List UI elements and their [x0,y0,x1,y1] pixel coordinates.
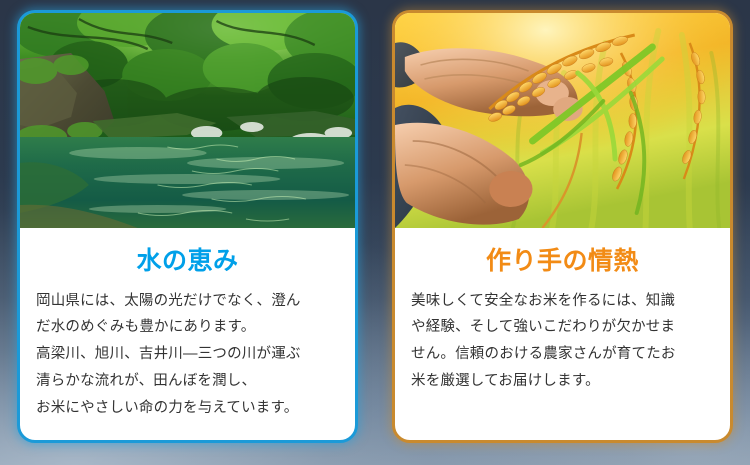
river-gorge-illustration [20,13,355,228]
photo-river-gorge [20,13,355,228]
card-water-title: 水の恵み [36,248,339,276]
text-line: や経験、そして強いこだわりが欠かせま [411,314,714,341]
card-water[interactable]: 水の恵み 岡山県には、太陽の光だけでなく、澄ん だ水のめぐみも豊かにあります。 … [17,10,358,443]
card-water-body: 水の恵み 岡山県には、太陽の光だけでなく、澄ん だ水のめぐみも豊かにあります。 … [20,228,355,422]
text-line: 岡山県には、太陽の光だけでなく、澄ん [36,288,339,315]
photo-rice-harvest [395,13,730,228]
text-line: 清らかな流れが、田んぼを潤し、 [36,368,339,395]
card-passion-body: 作り手の情熱 美味しくて安全なお米を作るには、知識 や経験、そして強いこだわりが… [395,228,730,395]
text-line: 米を厳選してお届けします。 [411,368,714,395]
card-passion-text: 美味しくて安全なお米を作るには、知識 や経験、そして強いこだわりが欠かせま せん… [411,288,714,395]
text-line: 美味しくて安全なお米を作るには、知識 [411,288,714,315]
card-passion[interactable]: 作り手の情熱 美味しくて安全なお米を作るには、知識 や経験、そして強いこだわりが… [392,10,733,443]
text-line: 高梁川、旭川、吉井川―三つの川が運ぶ [36,341,339,368]
text-line: せん。信頼のおける農家さんが育てたお [411,341,714,368]
promo-banner: 水の恵み 岡山県には、太陽の光だけでなく、澄ん だ水のめぐみも豊かにあります。 … [0,0,750,465]
card-water-text: 岡山県には、太陽の光だけでなく、澄ん だ水のめぐみも豊かにあります。 高梁川、旭… [36,288,339,422]
text-line: だ水のめぐみも豊かにあります。 [36,314,339,341]
text-line: お米にやさしい命の力を与えています。 [36,395,339,422]
rice-harvest-illustration [395,13,730,228]
card-passion-title: 作り手の情熱 [411,248,714,276]
